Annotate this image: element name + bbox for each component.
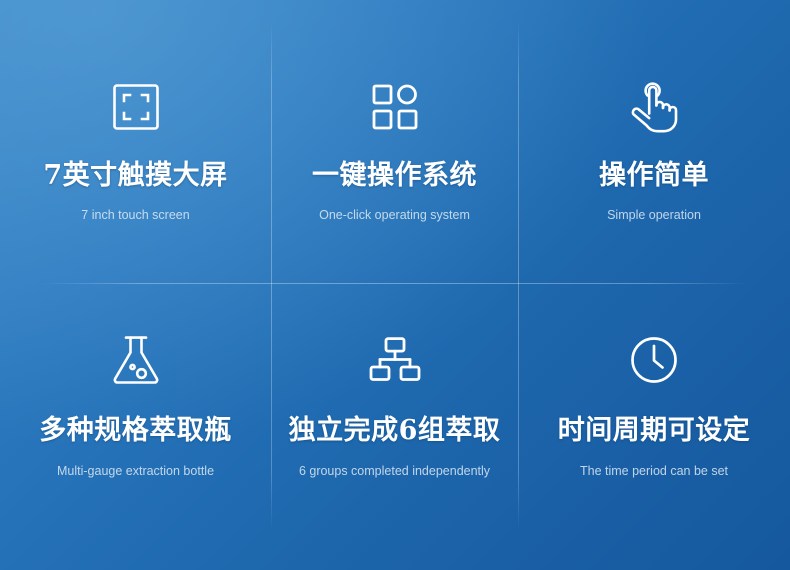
app-grid-icon xyxy=(372,78,418,136)
feature-cell-six-groups[interactable]: 独立完成6组萃取 6 groups completed independentl… xyxy=(271,283,518,570)
feature-subtitle: One-click operating system xyxy=(319,209,470,222)
feature-cell-simple-operation[interactable]: 操作简单 Simple operation xyxy=(518,0,790,283)
feature-subtitle: Simple operation xyxy=(607,209,701,222)
feature-title: 多种规格萃取瓶 xyxy=(39,417,232,444)
clock-icon xyxy=(630,331,678,389)
feature-cell-extraction-bottle[interactable]: 多种规格萃取瓶 Multi-gauge extraction bottle xyxy=(0,283,271,570)
feature-subtitle: The time period can be set xyxy=(580,465,728,478)
feature-grid: 7英寸触摸大屏 7 inch touch screen 一键操作系统 One-c… xyxy=(0,0,790,570)
feature-title: 操作简单 xyxy=(599,162,709,189)
tap-hand-icon xyxy=(631,78,677,136)
feature-title: 时间周期可设定 xyxy=(558,417,751,444)
screen-frame-icon xyxy=(112,78,160,136)
feature-grid-panel: 7英寸触摸大屏 7 inch touch screen 一键操作系统 One-c… xyxy=(0,0,790,570)
feature-subtitle: 7 inch touch screen xyxy=(81,209,189,222)
feature-title: 一键操作系统 xyxy=(312,162,477,189)
feature-cell-touch-screen[interactable]: 7英寸触摸大屏 7 inch touch screen xyxy=(0,0,271,283)
feature-subtitle: Multi-gauge extraction bottle xyxy=(57,465,214,478)
feature-cell-operating-system[interactable]: 一键操作系统 One-click operating system xyxy=(271,0,518,283)
feature-title: 独立完成6组萃取 xyxy=(289,417,501,444)
flask-icon xyxy=(112,331,160,389)
hierarchy-icon xyxy=(369,331,421,389)
feature-title: 7英寸触摸大屏 xyxy=(43,162,227,189)
feature-subtitle: 6 groups completed independently xyxy=(299,465,490,478)
feature-cell-time-period[interactable]: 时间周期可设定 The time period can be set xyxy=(518,283,790,570)
